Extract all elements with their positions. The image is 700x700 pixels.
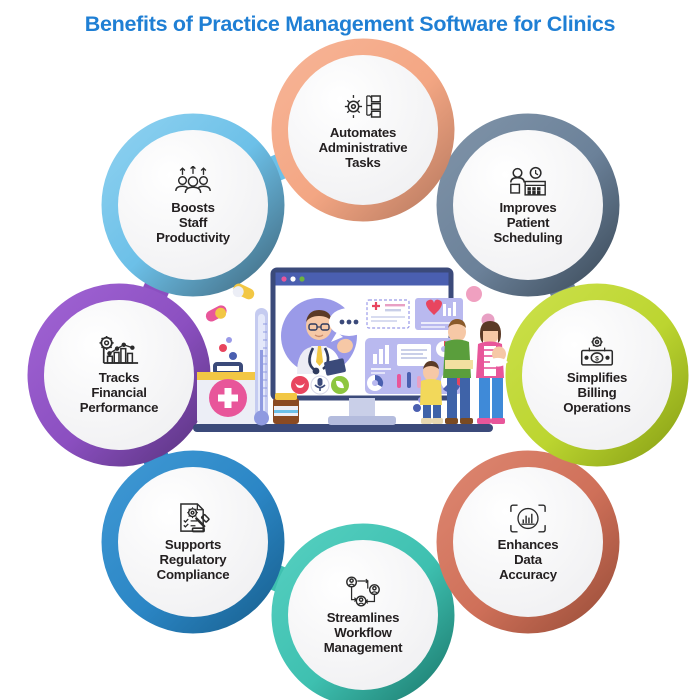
svg-text:$: $ [595,355,599,362]
node-automates-administrative-tasks[interactable]: Automates Administrative Tasks [288,55,438,205]
infographic-canvas: Benefits of Practice Management Software… [0,0,700,700]
node-label: Tracks Financial Performance [80,371,158,416]
node-boosts-staff-productivity[interactable]: Boosts Staff Productivity [118,130,268,280]
banknote-gear-icon: $ [576,334,618,368]
barchart-focus-icon [507,501,549,535]
node-label: Simplifies Billing Operations [563,371,631,416]
document-gavel-icon [172,501,214,535]
financial-chart-gear-icon [98,334,140,368]
node-label: Supports Regulatory Compliance [157,538,230,583]
node-label: Enhances Data Accuracy [498,538,559,583]
workflow-users-icon [342,574,384,608]
person-clock-calendar-icon [507,164,549,198]
node-label: Automates Administrative Tasks [319,126,408,171]
node-tracks-financial-performance[interactable]: Tracks Financial Performance [44,300,194,450]
node-improves-patient-scheduling[interactable]: Improves Patient Scheduling [453,130,603,280]
node-label: Streamlines Workflow Management [324,611,403,656]
node-simplifies-billing-operations[interactable]: $ Simplifies Billing Operations [522,300,672,450]
node-supports-regulatory-compliance[interactable]: Supports Regulatory Compliance [118,467,268,617]
node-streamlines-workflow-management[interactable]: Streamlines Workflow Management [288,540,438,690]
people-up-arrows-icon [172,164,214,198]
gear-orgchart-icon [342,89,384,123]
node-label: Boosts Staff Productivity [156,201,230,246]
node-enhances-data-accuracy[interactable]: Enhances Data Accuracy [453,467,603,617]
telemedicine-clinic-illustration [185,250,515,450]
node-label: Improves Patient Scheduling [493,201,562,246]
